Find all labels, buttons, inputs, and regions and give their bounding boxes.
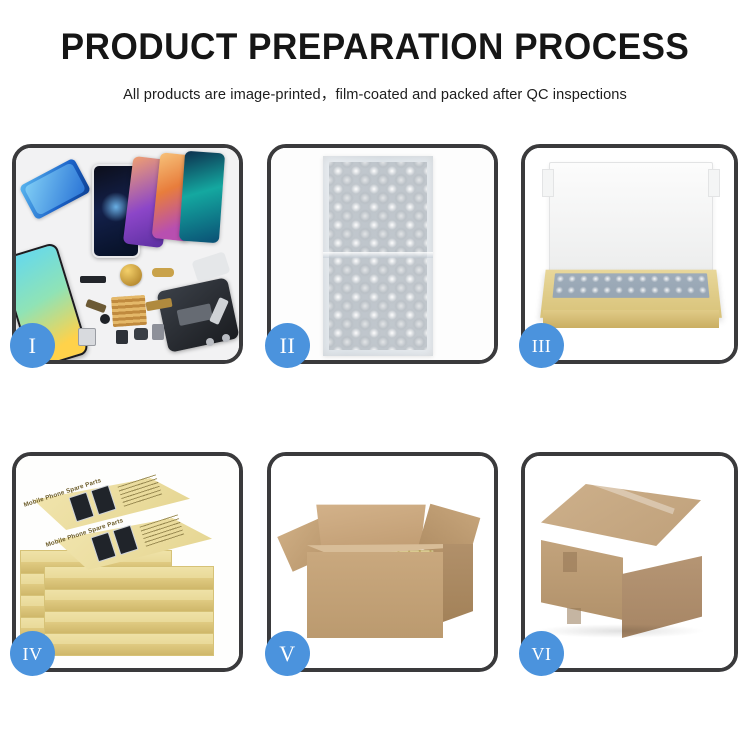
bubble-wrap-photo	[271, 148, 494, 360]
step-badge-2: II	[265, 323, 310, 368]
step-panel-6: VI	[521, 452, 738, 672]
spare-part-icon	[100, 314, 110, 324]
step-panel-1: I	[12, 144, 243, 364]
tool-hand-icon	[191, 251, 230, 282]
kraft-tray-front	[543, 310, 719, 328]
phone-blue-tilted-icon	[19, 158, 92, 221]
lid-tab-right	[708, 169, 720, 197]
step-badge-1: I	[10, 323, 55, 368]
retail-box	[44, 566, 214, 590]
step-4-image: Mobile Phone Spare Parts Mobile Phone Sp…	[16, 456, 239, 668]
screw-icon	[206, 338, 214, 346]
carton-left-face	[541, 540, 623, 620]
step-5-image	[271, 456, 494, 668]
carton-side-face	[443, 544, 473, 622]
step-panel-5: V	[267, 452, 498, 672]
lid-tab-left	[542, 169, 554, 197]
retail-box	[44, 588, 214, 612]
spare-part-icon	[116, 330, 128, 344]
step-panel-4: Mobile Phone Spare Parts Mobile Phone Sp…	[12, 452, 243, 672]
spare-part-icon	[78, 328, 96, 346]
phone-teal-icon	[179, 151, 225, 244]
bubble-wrapped-contents-icon	[553, 273, 710, 298]
steps-grid: I II	[0, 0, 750, 750]
step-panel-3: III	[521, 144, 738, 364]
carton-filling-photo	[271, 456, 494, 668]
spare-part-icon	[152, 324, 164, 340]
step-panel-2: II	[267, 144, 498, 364]
retail-box	[44, 610, 214, 634]
step-1-image	[16, 148, 239, 360]
bubble-wrap-sleeve-icon	[323, 156, 433, 356]
carton-shadow	[535, 624, 705, 638]
stacked-boxes-photo: Mobile Phone Spare Parts Mobile Phone Sp…	[16, 456, 239, 668]
carton-tape-upper	[563, 552, 577, 572]
retail-box	[44, 632, 214, 656]
step-badge-6: VI	[519, 631, 564, 676]
spare-part-icon	[80, 276, 106, 283]
box-lid-icon	[549, 162, 713, 276]
phones-and-parts-photo	[16, 148, 239, 360]
spare-part-icon	[134, 328, 148, 340]
product-preparation-infographic: PRODUCT PREPARATION PROCESS All products…	[0, 0, 750, 750]
spare-part-icon	[85, 299, 107, 313]
spare-part-icon	[152, 268, 174, 277]
vibration-motor-icon	[120, 264, 142, 286]
wrap-seam	[323, 252, 433, 258]
carton-front-face	[307, 552, 443, 638]
step-2-image	[271, 148, 494, 360]
connector-chip-icon	[111, 295, 147, 327]
carton-tape-lower	[567, 608, 581, 624]
step-badge-4: IV	[10, 631, 55, 676]
step-badge-5: V	[265, 631, 310, 676]
screw-icon	[222, 334, 230, 342]
step-badge-3: III	[519, 323, 564, 368]
carton-flap-back	[316, 505, 425, 550]
